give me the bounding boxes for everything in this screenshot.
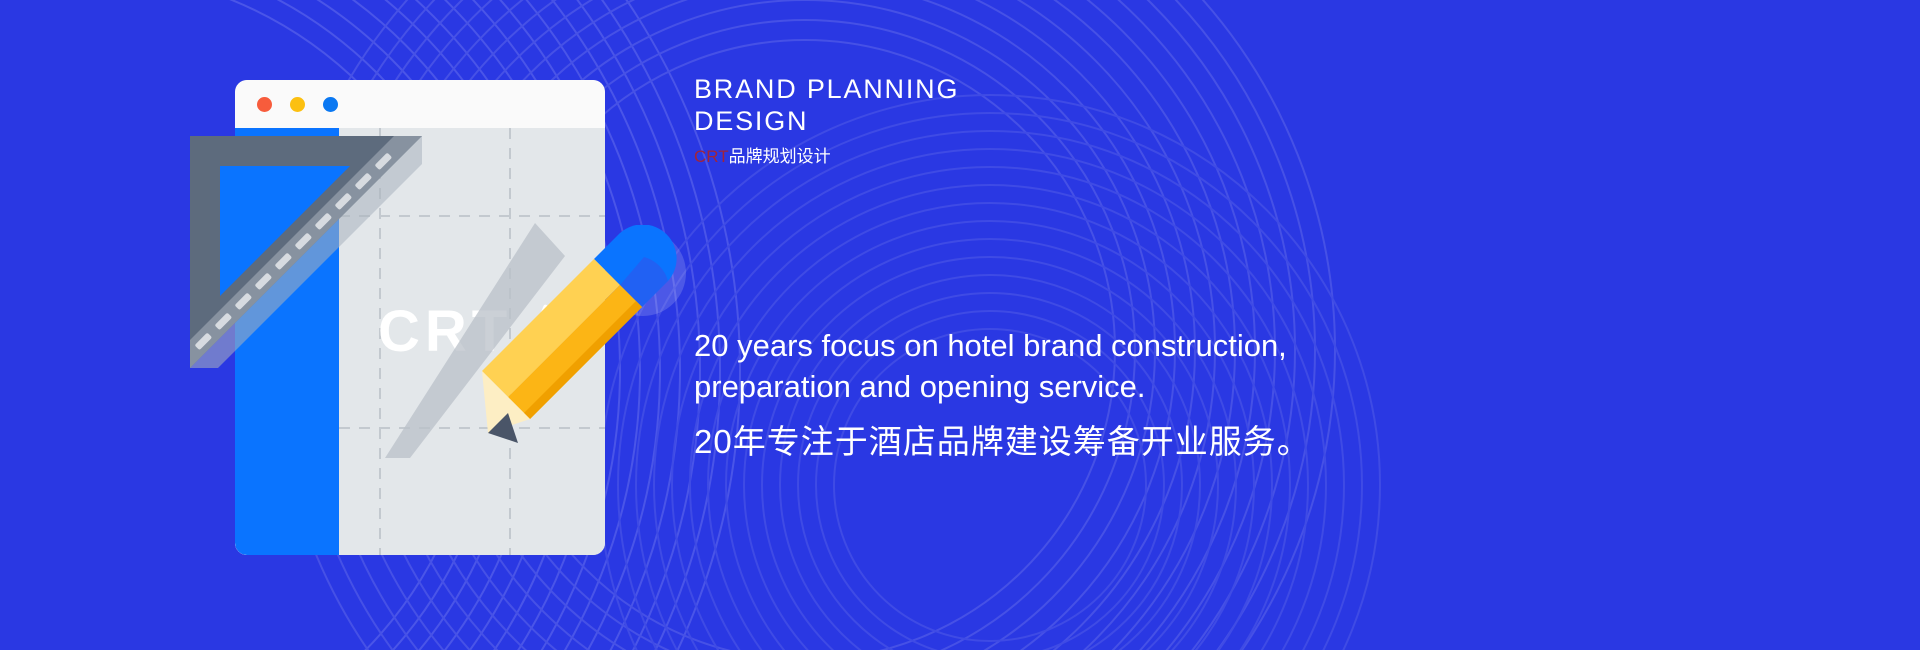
subtitle-brand: CRT: [694, 147, 729, 166]
window-maximize-dot-icon[interactable]: [323, 97, 338, 112]
headline-block: BRAND PLANNING DESIGN CRT品牌规划设计: [694, 74, 959, 167]
tagline-english: 20 years focus on hotel brand constructi…: [694, 325, 1311, 407]
window-titlebar: [235, 80, 605, 128]
triangle-ruler-icon: [180, 128, 430, 378]
promo-banner: CRT: [0, 0, 1920, 650]
subtitle: CRT品牌规划设计: [694, 147, 959, 167]
pencil-icon: [470, 225, 680, 455]
tagline-chinese: 20年专注于酒店品牌建设筹备开业服务。: [694, 421, 1311, 464]
window-minimize-dot-icon[interactable]: [290, 97, 305, 112]
window-close-dot-icon[interactable]: [257, 97, 272, 112]
subtitle-rest: 品牌规划设计: [729, 147, 831, 166]
banner-text-column: BRAND PLANNING DESIGN CRT品牌规划设计 20 years…: [694, 0, 1794, 650]
page-title: BRAND PLANNING DESIGN: [694, 74, 959, 138]
tagline-block: 20 years focus on hotel brand constructi…: [694, 325, 1311, 464]
